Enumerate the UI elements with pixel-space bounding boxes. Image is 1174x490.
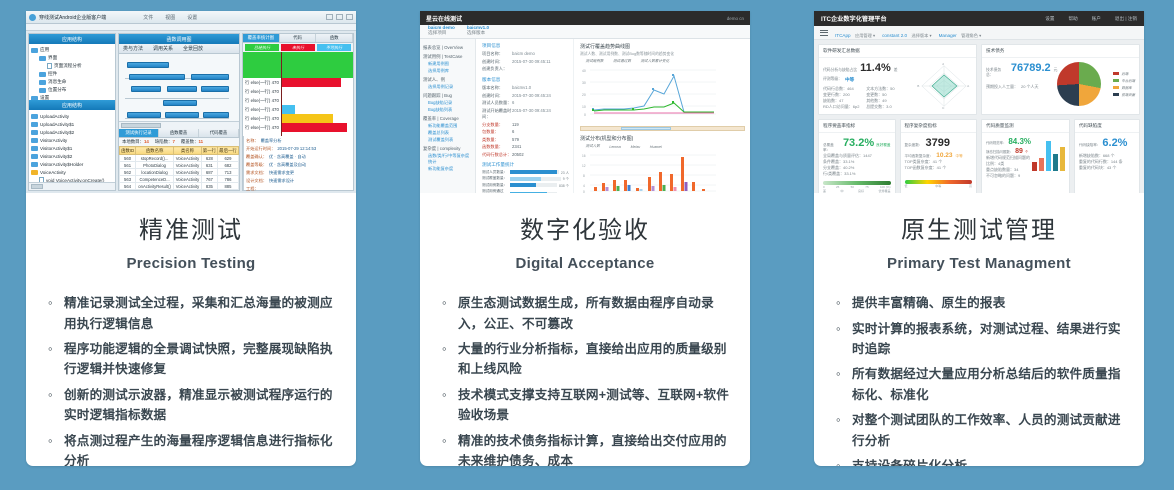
metric-label: 代码分析与缺陷占比 [823,68,857,73]
coverage-legend: 已经执行 未执行 不可执行 [243,43,353,52]
svg-text:8: 8 [583,174,585,178]
widget-row-top: 软件研发汇总数据 代码分析与缺陷占比 11.4% 差 评测等级 [818,44,1140,115]
tree-node[interactable]: 位置分布 [31,86,113,94]
stat-local: 本地数目：14 [122,139,149,145]
metric-row: 函数数量：2341 [482,144,569,150]
bar-severe [1039,158,1044,171]
maximize-icon[interactable] [336,14,343,20]
svg-text:0: 0 [584,113,586,117]
column-header-name: 函数名称 [136,147,174,155]
legend-executed: 已经执行 [245,44,279,51]
tree-node-label: VisitorActivity$2 [40,154,72,159]
legend-item: 测试用例数 [580,59,603,64]
list-item: 对整个测试团队的工作效率、人员的测试贡献进行分析 [834,410,1124,451]
folder-icon [31,146,38,151]
info-row: 创建负责人： [482,66,569,72]
table-row[interactable]: 564 onActivityResult() VoiceActivity 835… [120,183,239,190]
widget-title: 程序复杂度指标 [901,120,977,133]
svg-text:30: 30 [582,81,586,85]
stat: TOP函数复杂度：41 个 [905,165,973,171]
stat: 重复的代码块：43 个 [1079,165,1135,171]
svg-text:C: C [942,106,945,110]
project-info-header: 项目信息 [482,43,569,49]
selector-app[interactable]: ITCApp 应用管理 ▾ [835,24,875,42]
metric-value: 73.2% [843,137,874,149]
metric-value: 76789.2 [1011,62,1051,74]
sub-label: 评测等级： [823,77,842,83]
document-icon [47,63,52,69]
tree-node-label: 控件 [48,71,57,77]
list-item: 所有数据经过大量应用分析总结后的软件质量指标化、标准化 [834,364,1124,405]
brand-title: 星云在线测试 [426,14,462,23]
table-row[interactable]: 562 locationDialog VoiceActivity 687 713 [120,169,239,176]
list-item: 将点测过程产生的海量程序逻辑信息进行指标化分析 [46,431,336,466]
widget-dev-summary: 软件研发汇总数据 代码分析与缺陷占比 11.4% 差 评测等级 [818,44,977,115]
quality-bar-chart [1032,137,1065,171]
sub-value: 中等 [845,77,854,83]
detail-row: 工程： [246,186,351,192]
info-row: 创建时间：2015-07-30 09:45:11 [482,59,569,65]
itc-widgets: 软件研发汇总数据 代码分析与缺陷占比 11.4% 差 评测等级 [814,40,1144,193]
metric-unit: 元 [1054,68,1058,73]
legend-item: 测试通过数 [607,59,630,64]
widget-content: 复杂度数： 3799 平均函数复杂度： 10.23 中等 TOP类复杂度：41 … [901,133,977,192]
stat: RD人口访问量：6p2 [823,104,860,110]
sidebar-item[interactable]: 选择用例库 [428,68,472,74]
gauge-tick-labels: 差中 良好优秀覆盖 [823,189,891,193]
code-coverage-view[interactable]: 行 else(一行) 470 行 else(一行) 470 行 else(一行)… [243,52,353,136]
svg-text:40: 40 [582,69,586,73]
metric-unit: 差 [894,68,898,73]
graph-node[interactable] [201,86,229,92]
menu-icon[interactable] [820,30,828,36]
detail-row: 覆盖确认：优 · 含高覆盖 · 自动 [246,154,351,160]
legend-item: Lenovo [604,144,621,149]
left-scrollbar[interactable] [29,182,115,190]
list-item: 原生态测试数据生成，所有数据由程序自动录入，公正、不可篡改 [440,293,730,334]
menu-item-view[interactable]: 视图 [165,14,175,21]
metric-value: 84.3% [1008,137,1031,146]
folder-icon [31,170,38,175]
widget-content: 代码分析与缺陷占比 11.4% 差 评测等级： 中等 [819,58,976,114]
result-tabs[interactable]: 测试执行记录 函数覆盖 代码覆盖 [119,129,239,138]
folder-icon [31,130,38,135]
nav-logout[interactable]: 退出 | 注销 [1115,16,1137,22]
tree-node[interactable]: UploadActivity [31,112,113,120]
app-workspace: 应用结构 应用 界面 页面流程分析 控件 消息生命 位置分布 设置 测试 应用结… [26,31,356,193]
feature-card-primary-test-management: ITC企业数字化管理平台 设置 帮助 账户 退出 | 注销 ITCApp 应用管… [814,11,1144,466]
progress-row: 测试用例数量：838 个 [482,183,569,188]
tab-coverage-chart[interactable]: 覆盖率统计图 [243,34,280,42]
scroll-thumb[interactable] [621,127,671,130]
legend-item: 测试人数累计变化 [635,59,669,64]
table-header-row: 函数ID 函数名称 类名称 第一行 最后一行 [120,147,239,155]
graph-node[interactable] [129,74,185,80]
radar-chart: d A C B [916,62,972,110]
list-item: 精准的技术债务指标计算，直接给出交付应用的未来维护债务、成本 [440,431,730,466]
function-table[interactable]: 函数ID 函数名称 类名称 第一行 最后一行 560 stopRecord().… [119,146,239,190]
svg-text:A: A [967,84,970,88]
progress-row: 测试人员数量：23 人 [482,170,569,175]
pie-chart [1057,62,1101,106]
tree-node-label: VisitorActivity [40,138,67,143]
stat-defect: 缺陷数：7 [155,139,175,145]
scroll-thumb[interactable] [31,184,43,189]
svg-text:d: d [942,62,944,66]
tree-node-label: UploadActivity$1 [40,122,74,127]
feature-list: 原生态测试数据生成，所有数据由程序自动录入，公正、不可篡改 大量的行业分析指标，… [440,293,730,466]
window-controls[interactable] [326,14,353,20]
screenshot-digital-acceptance: 星云在线测试 demo cn baicm demo选择项目 baicmv1.0选… [420,11,750,193]
sidebar-item[interactable]: Bug缺陷列表 [428,107,472,113]
tree-node[interactable]: 消息生命 [31,78,113,86]
sidebar-item[interactable]: 函数/类/行/中等复杂度统计 [428,153,472,165]
tab-code[interactable]: 代码 [280,34,317,42]
tree-node-label: VisitorActivity$Holder [40,162,83,167]
info-row: 项目名称：baicm demo [482,51,569,57]
call-graph-toolbar[interactable]: 类与方法 调用关系 全景回放 [119,44,239,54]
metric-row: 类数量：579 [482,137,569,143]
sidebar-section-coverage[interactable]: 覆盖率 | Coverage [423,116,472,122]
workload-header: 测试工作量统计 [482,162,569,168]
list-item: 实时计算的报表系统，对测试过程、结果进行实时追踪 [834,319,1124,360]
graph-node[interactable] [127,112,161,118]
metric-label: 代码缺陷率： [1079,143,1101,148]
graph-node[interactable] [131,86,161,92]
charts-column: 测试行覆盖趋势曲线图 测试人数、测试用例数、测试Bug数等随时间的趋势变化 测试… [574,39,750,193]
screenshot-primary-test-management: ITC企业数字化管理平台 设置 帮助 账户 退出 | 注销 ITCApp 应用管… [814,11,1144,193]
metric2-unit: 个 [1025,149,1028,154]
screenshot-precision-testing: 穿线测试Android企业版客户端 文件 视图 设置 [26,11,356,193]
detail-row: 开始运行时间：2015-07-29 12:14:53 [246,146,351,152]
folder-icon [31,154,38,159]
tab-execution-records[interactable]: 测试执行记录 [119,129,159,137]
bar-suggest [1060,147,1065,171]
widget-complexity: 程序复杂度指标 复杂度数： 3799 平均函数复杂度： 10.23 中等 [900,119,978,193]
widget-content: 总覆盖率： 73.2% 良好覆盖 全局覆盖与质量评估：1447 条件覆盖：33.… [819,133,895,193]
tree-node[interactable]: VisitorActivity [31,136,113,144]
card-title-en: Precision Testing [46,255,336,272]
folder-icon [31,162,38,167]
pane-app-structure: 应用结构 应用 界面 页面流程分析 控件 消息生命 位置分布 设置 测试 应用结… [28,33,116,191]
app-title-bar: 穿线测试Android企业版客户端 文件 视图 设置 [26,11,356,24]
toolbar-option-relations[interactable]: 调用关系 [153,45,173,52]
feature-list: 精准记录测试全过程，采集和汇总海量的被测应用执行逻辑信息 程序功能逻辑的全景调试… [46,293,336,466]
metric2-unit: 中等 [956,154,963,159]
svg-text:12: 12 [582,164,586,168]
line-chart-legend: 测试用例数 测试通过数 测试人数累计变化 [580,59,745,64]
chart-range-scrollbar[interactable] [580,126,745,131]
sub-label: 预期投入人工量： [986,84,1018,90]
legend-item: 前端页面 [1105,92,1135,97]
sidebar-item[interactable]: 新功能覆盖范围 [428,123,472,129]
legend-unreachable: 不可执行 [317,44,351,51]
project-info-column: 项目信息 项目名称：baicm demo 创建时间：2015-07-30 09:… [476,39,574,193]
tree-node[interactable]: VisitorActivity$2 [31,152,113,160]
card-body: 精准测试 Precision Testing 精准记录测试全过程，采集和汇总海量… [26,193,356,466]
folder-icon [39,80,46,85]
nav-help[interactable]: 帮助 [1068,16,1077,22]
app-window-title: 穿线测试Android企业版客户端 [39,14,106,21]
sidebar-item[interactable]: 新建用例图 [428,61,472,67]
tree-node[interactable]: UploadActivity$1 [31,120,113,128]
gauge-ticks: 低中等高 [905,184,973,188]
class-list-tree[interactable]: UploadActivity UploadActivity$1 UploadAc… [29,110,115,182]
widget-code-quality: 代码质量监测 代码规范率： 84.3% 静态扫描问题数： 89 [981,119,1070,193]
widget-defect-rate: 代码缺陷度 代码缺陷率： 6.2% 新增缺陷数：668 个 重复的代码行数：14… [1074,119,1140,193]
column-header-last: 最后一行 [217,147,238,155]
pane-coverage-code: 覆盖率统计图 代码 函数 已经执行 未执行 不可执行 行 else(一行) 47… [242,33,354,191]
toolbar-option-replay[interactable]: 全景回放 [183,45,203,52]
dashboard-header: 星云在线测试 demo cn [420,11,750,25]
column-header-class: 类名称 [174,147,202,155]
tree-node-label: 位置分布 [48,87,66,93]
graph-node[interactable] [127,62,169,68]
version-info-header: 版本信息 [482,77,569,83]
column-header-id: 函数ID [120,147,136,155]
svg-text:16: 16 [582,154,586,158]
sidebar-item[interactable]: 选择用例记录 [428,84,472,90]
graph-node[interactable] [163,100,197,106]
app-menu-bar: 文件 视图 设置 [143,14,197,21]
tree-node[interactable]: 界面 [31,54,113,62]
card-title-en: Primary Test Managment [834,255,1124,272]
metric-value: 3799 [925,137,949,149]
bar-chart-legend: 测试人数 Lenovo Meizu Huawei [580,144,745,149]
selector-version[interactable]: constant 2.0 选择版本 ▾ [882,24,932,42]
tab-project[interactable]: baicm demo选择项目 [426,25,463,38]
scroll-thumb[interactable] [121,123,161,128]
info-row: 测试人员数量：6 [482,100,569,106]
tree-node-label: 界面 [48,55,57,61]
account-label[interactable]: demo cn [727,16,744,21]
app-logo-icon [29,14,36,21]
menu-item-file[interactable]: 文件 [143,14,153,21]
metric-row: 分支数量：119 [482,122,569,128]
widget-title: 代码质量监测 [982,120,1069,133]
nav-account[interactable]: 账户 [1092,16,1101,22]
feature-card-precision-testing: 穿线测试Android企业版客户端 文件 视图 设置 [26,11,356,466]
sidebar-section-testers[interactable]: 测试人、例 [423,77,472,83]
widget-row-bottom: 程序要盖率指标 总覆盖率： 73.2% 良好覆盖 全局覆盖与质量评估：1447 … [818,119,1140,193]
graph-node[interactable] [165,112,199,118]
dashboard-main: 报表总览 | OverView 测试用例 | TestCase 新建用例图 选择… [420,39,750,193]
legend-item: Meizu [625,144,640,149]
list-item: 大量的行业分析指标，直接给出应用的质量级别和上线风险 [440,339,730,380]
graph-node[interactable] [167,86,197,92]
tree-node[interactable]: 应用 [31,46,113,54]
tree-node[interactable]: VisitorActivity$1 [31,144,113,152]
legend-item: 数据库 [1105,85,1135,90]
widget-content: 代码缺陷率： 6.2% 新增缺陷数：668 个 重复的代码行数：144 条 重复… [1075,133,1139,175]
sidebar-section-bug[interactable]: 问题跟踪 | Bug [423,93,472,99]
svg-text:20: 20 [582,93,586,97]
tree-node-label: 页面流程分析 [54,63,82,69]
widget-title: 技术债务 [982,45,1139,58]
feature-card-digital-acceptance: 星云在线测试 demo cn baicm demo选择项目 baicmv1.0选… [420,11,750,466]
table-row[interactable]: 563 CompetenceD... VoiceActivity 767 786 [120,176,239,183]
progress-row: 测试覆盖数量：9 个 [482,176,569,181]
stat: 行/类覆盖：33.1% [823,171,891,177]
widget-content: 代码规范率： 84.3% 静态扫描问题数： 89 个 新增代码规范扫描问题的比例… [982,133,1069,183]
dashboard-sidebar[interactable]: 报表总览 | OverView 测试用例 | TestCase 新建用例图 选择… [420,39,476,193]
call-graph-canvas[interactable] [119,54,239,121]
close-icon[interactable] [346,14,353,20]
widget-coverage: 程序要盖率指标 总覆盖率： 73.2% 良好覆盖 全局覆盖与质量评估：1447 … [818,119,896,193]
list-item: 支持设备碎片化分析 [834,456,1124,466]
call-graph-scrollbar[interactable] [119,121,239,129]
tree-node-label: VisitorActivity$1 [40,146,72,151]
metric-label: 代码规范率： [986,140,1006,145]
list-item: 提供丰富精确、原生的报表 [834,293,1124,313]
info-row: 创建时间：2015-07-30 09:45:24 [482,93,569,99]
svg-text:10: 10 [582,105,586,109]
legend-item: 测试人数 [580,144,600,149]
folder-icon [39,56,46,61]
svg-text:0: 0 [583,190,585,193]
sidebar-section-testcase[interactable]: 测试用例 | TestCase [423,54,472,60]
itc-subheader: ITCApp 应用管理 ▾ constant 2.0 选择版本 ▾ Manage… [814,26,1144,40]
tree-node[interactable]: 控件 [31,70,113,78]
tree-node-label: 应用 [40,47,49,53]
metric-row: 代码行数总计：20502 [482,152,569,158]
detail-panel: 名称：覆盖率分析 开始运行时间：2015-07-29 12:14:53 覆盖确认… [243,136,353,190]
folder-icon [31,122,38,127]
folder-icon [39,72,46,77]
bar-info [1053,154,1058,171]
widget-title: 程序要盖率指标 [819,120,895,133]
legend-item: Huawei [644,144,662,149]
metric-value: 6.2% [1102,137,1127,149]
tree-node[interactable]: VisitorActivity$Holder [31,160,113,168]
bar-fatal [1032,162,1037,171]
sidebar-section-overview[interactable]: 报表总览 | OverView [423,45,472,51]
column-header-first: 第一行 [201,147,217,155]
pane-call-graph-header: 函数调用图 [119,34,239,44]
sidebar-item[interactable]: 测试覆盖列表 [428,137,472,143]
detail-row: 需求文档：快速需求变更 [246,170,351,176]
svg-text:B: B [917,84,919,88]
sidebar-section-complexity[interactable]: 复杂度 | complexity [423,146,472,152]
detail-row: 覆盖等级：优 · 含高覆盖及自动 [246,162,351,168]
sub-value: 20 个人天 [1021,84,1039,90]
line-chart-subtitle: 测试人数、测试用例数、测试Bug数等随时间的趋势变化 [580,52,745,57]
card-title-cn: 精准测试 [46,215,336,246]
metric-label: 总覆盖率： [823,143,841,153]
metric-label: 复杂度数： [905,143,923,148]
table-row[interactable]: 561 PhotoDialog VoiceActivity 631 682 [120,162,239,169]
tab-functions[interactable]: 函数 [316,34,353,42]
pane-call-graph: 函数调用图 类与方法 调用关系 全景回放 [118,33,240,191]
pane-app-structure-header: 应用结构 [29,34,115,44]
selector-role[interactable]: Manager 管理角色 ▾ [939,24,982,42]
menu-item-settings[interactable]: 设置 [187,14,197,21]
app-toolbar[interactable] [26,24,356,31]
tree-node[interactable]: VoiceActivity [31,168,113,176]
metric-label: 技术债务总： [986,68,1008,78]
sidebar-item[interactable]: 覆盖总列表 [428,130,472,136]
legend-not-executed: 未执行 [281,44,315,51]
list-item: 创新的测试示波器，精准显示被测试程序运行的实时逻辑指标数据 [46,385,336,426]
svg-text:4: 4 [583,184,585,188]
sidebar-item[interactable]: 新功能复杂度 [428,166,472,172]
itc-nav[interactable]: 设置 帮助 账户 退出 | 注销 [1045,16,1137,22]
card-body: 数字化验收 Digital Acceptance 原生态测试数据生成，所有数据由… [420,193,750,466]
stat-covered: 覆盖数：11 [181,139,203,145]
coverage-stats: 本地数目：14 缺陷数：7 覆盖数：11 [119,138,239,146]
info-row: 测试开始覆盖时间：2015-07-30 09:45:24 [482,108,569,120]
pane-app-structure-header-2: 应用结构 [29,100,115,110]
tree-node[interactable]: 页面流程分析 [31,62,113,70]
coverage-tabs[interactable]: 覆盖率统计图 代码 函数 [243,34,353,43]
folder-icon [39,88,46,93]
graph-node[interactable] [203,112,229,118]
tab-function-coverage[interactable]: 函数覆盖 [159,129,199,137]
nav-settings[interactable]: 设置 [1045,16,1054,22]
list-item: 程序功能逻辑的全景调试快照，完整展现缺陷执行逻辑并快速修复 [46,339,336,380]
tree-node-label: 消息生命 [48,79,66,85]
table-row[interactable]: 560 stopRecord()... VoiceActivity 628 62… [120,155,239,162]
tree-node-label: UploadActivity [40,114,69,119]
list-item: 技术模式支撑支持互联网+测试等、互联网+软件验收场景 [440,385,730,426]
card-title-en: Digital Acceptance [440,255,730,272]
feature-card-deck: 穿线测试Android企业版客户端 文件 视图 设置 [0,0,1174,490]
info-row: 版本名称：baicmv1.0 [482,85,569,91]
toolbar-option-classes[interactable]: 类与方法 [123,45,143,52]
tab-version[interactable]: baicmv1.0选择版本 [465,25,497,38]
feature-list: 提供丰富精确、原生的报表 实时计算的报表系统，对测试过程、结果进行实时追踪 所有… [834,293,1124,466]
widget-title: 软件研发汇总数据 [819,45,976,58]
stat: 新增代码规范扫描问题的比例：4类 [986,155,1032,167]
tree-node[interactable]: UploadActivity$2 [31,128,113,136]
metric-row: 包数量：6 [482,129,569,135]
graph-node[interactable] [191,74,229,80]
tree-node-label: UploadActivity$2 [40,130,74,135]
metric2-label: 静态扫描问题数： [986,149,1013,154]
workload-progress-list: 测试人员数量：23 人 测试覆盖数量：9 个 测试用例数量：838 个 测试用例… [482,170,569,193]
metric2-value: 89 [1015,148,1023,155]
card-title-cn: 原生测试管理 [834,215,1124,246]
line-chart-plot: 4030 20100 [580,66,718,118]
metric2-value: 10.23 [936,152,952,159]
line-chart-title: 测试行覆盖趋势曲线图 [580,43,745,50]
project-tabs[interactable]: baicm demo选择项目 baicmv1.0选择版本 [420,25,750,39]
bar-normal [1046,141,1051,171]
folder-icon [31,138,38,143]
card-body: 原生测试管理 Primary Test Managment 提供丰富精确、原生的… [814,193,1144,466]
legend-item: 中台后端 [1105,78,1135,83]
bar-chart-plot: 1612840 [580,151,718,193]
card-title-cn: 数字化验收 [440,215,730,246]
brand-title: ITC企业数字化管理平台 [821,14,887,23]
legend-item: 后端 [1105,71,1135,76]
minimize-icon[interactable] [326,14,333,20]
widget-tech-debt: 技术债务 技术债务总： 76789.2 元 预期投入人工量： [981,44,1140,115]
bar-chart-title: 测试分布(机型和分布图) [580,135,745,142]
sidebar-item[interactable]: Bug缺陷记录 [428,100,472,106]
folder-icon [31,48,38,53]
folder-icon [31,114,38,119]
detail-row: 设计文档：快速需求设计 [246,178,351,184]
widget-title: 代码缺陷度 [1075,120,1139,133]
detail-row: 名称：覆盖率分析 [246,138,351,144]
stat: 总提交数：3.0 [866,104,903,110]
widget-content: 技术债务总： 76789.2 元 预期投入人工量： 20 个人天 [982,58,1139,110]
progress-row: 测试用例通过数：769 个 [482,189,569,193]
app-structure-tree[interactable]: 应用 界面 页面流程分析 控件 消息生命 位置分布 设置 测试 [29,44,115,100]
metric-value: 11.4% [860,62,891,74]
tab-code-coverage[interactable]: 代码覆盖 [199,129,239,137]
